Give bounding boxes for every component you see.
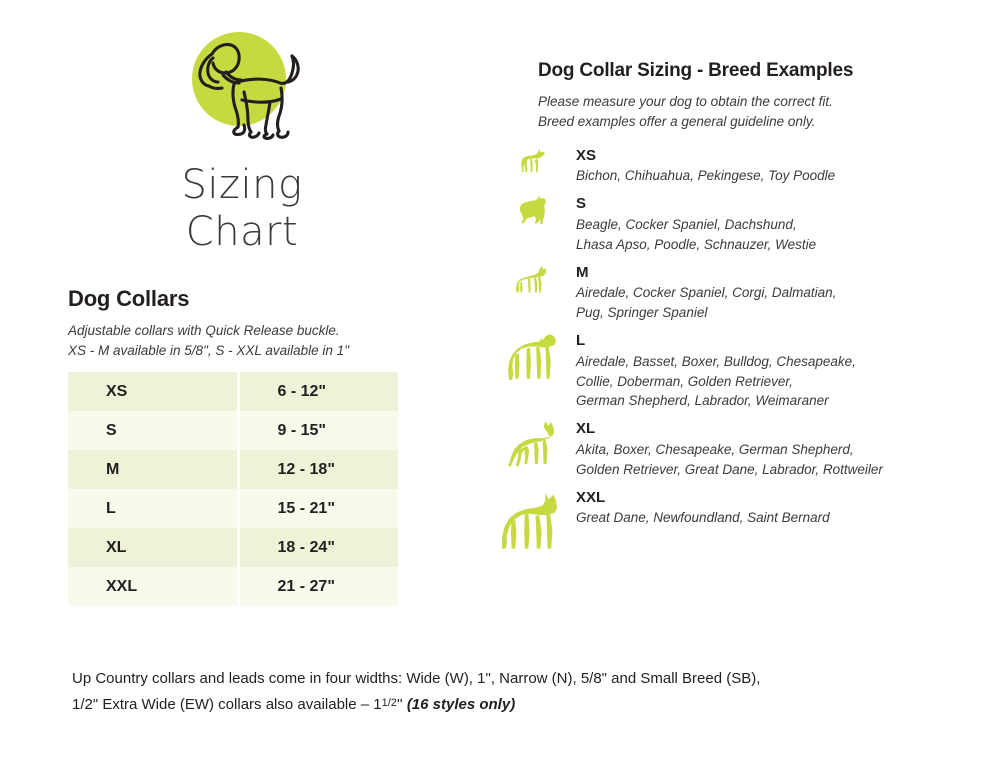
breed-names: Bichon, Chihuahua, Pekingese, Toy Poodle xyxy=(576,166,958,186)
page-title: Sizing Chart xyxy=(152,162,332,256)
breed-size-label: L xyxy=(576,332,958,351)
footer-fraction: 1/2 xyxy=(382,697,397,709)
breed-list-item: SBeagle, Cocker Spaniel, Dachshund, Lhas… xyxy=(538,195,958,254)
range-cell: 18 - 24" xyxy=(238,528,398,567)
range-cell: 12 - 18" xyxy=(238,450,398,489)
breed-text: MAiredale, Cocker Spaniel, Corgi, Dalmat… xyxy=(538,264,958,323)
breed-icon-wrap xyxy=(490,264,574,298)
footer-styles-note: (16 styles only) xyxy=(407,696,515,713)
corgi-silhouette-icon xyxy=(508,264,556,298)
table-row: L15 - 21" xyxy=(68,489,398,528)
size-cell: XS xyxy=(68,372,238,411)
logo-mark xyxy=(162,28,322,148)
size-cell: M xyxy=(68,450,238,489)
breed-icon-wrap xyxy=(490,147,574,177)
right-column: Dog Collar Sizing - Breed Examples Pleas… xyxy=(538,60,958,537)
breed-size-label: XS xyxy=(576,147,958,166)
table-row: M12 - 18" xyxy=(68,450,398,489)
footer-inch-mark: '' xyxy=(397,696,403,713)
table-row: XS6 - 12" xyxy=(68,372,398,411)
size-cell: XXL xyxy=(68,567,238,606)
breed-examples-note: Please measure your dog to obtain the co… xyxy=(538,92,958,133)
size-cell: S xyxy=(68,411,238,450)
breed-text: XSBichon, Chihuahua, Pekingese, Toy Pood… xyxy=(538,147,958,187)
breed-size-label: XL xyxy=(576,420,958,439)
dog-collars-subtext-line-1: Adjustable collars with Quick Release bu… xyxy=(68,321,408,341)
table-row: XL18 - 24" xyxy=(68,528,398,567)
breed-icon-wrap xyxy=(490,420,574,468)
breed-note-line-2: Breed examples offer a general guideline… xyxy=(538,112,958,132)
size-cell: XL xyxy=(68,528,238,567)
dog-collars-heading: Dog Collars xyxy=(68,286,408,312)
breed-list-item: XXLGreat Dane, Newfoundland, Saint Berna… xyxy=(538,489,958,529)
terrier-silhouette-icon xyxy=(512,195,552,229)
footer-note: Up Country collars and leads come in fou… xyxy=(72,666,952,719)
breed-examples-heading: Dog Collar Sizing - Breed Examples xyxy=(538,60,958,82)
breed-size-label: M xyxy=(576,264,958,283)
range-cell: 15 - 21" xyxy=(238,489,398,528)
footer-line-2: 1/2" Extra Wide (EW) collars also availa… xyxy=(72,692,952,718)
table-row: S9 - 15" xyxy=(68,411,398,450)
dog-collars-section: Dog Collars Adjustable collars with Quic… xyxy=(68,286,408,361)
dog-line-art-logo-icon xyxy=(182,28,312,140)
german-shepherd-silhouette-icon xyxy=(497,420,567,468)
breed-text: XLAkita, Boxer, Chesapeake, German Sheph… xyxy=(538,420,958,479)
breed-text: XXLGreat Dane, Newfoundland, Saint Berna… xyxy=(538,489,958,529)
retriever-silhouette-icon xyxy=(499,332,565,384)
breed-text: SBeagle, Cocker Spaniel, Dachshund, Lhas… xyxy=(538,195,958,254)
breed-names: Airedale, Basset, Boxer, Bulldog, Chesap… xyxy=(576,352,958,412)
breed-text: LAiredale, Basset, Boxer, Bulldog, Chesa… xyxy=(538,332,958,411)
breed-list-item: LAiredale, Basset, Boxer, Bulldog, Chesa… xyxy=(538,332,958,411)
breed-note-line-1: Please measure your dog to obtain the co… xyxy=(538,92,958,112)
brand-title-line-1: Sizing xyxy=(152,162,332,209)
chihuahua-silhouette-icon xyxy=(515,147,549,177)
table-row: XXL21 - 27" xyxy=(68,567,398,606)
breed-list-item: XLAkita, Boxer, Chesapeake, German Sheph… xyxy=(538,420,958,479)
breed-names: Great Dane, Newfoundland, Saint Bernard xyxy=(576,508,958,528)
size-cell: L xyxy=(68,489,238,528)
breed-names: Akita, Boxer, Chesapeake, German Shepher… xyxy=(576,440,958,480)
breed-list: XSBichon, Chihuahua, Pekingese, Toy Pood… xyxy=(538,147,958,529)
size-table-body: XS6 - 12"S9 - 15"M12 - 18"L15 - 21"XL18 … xyxy=(68,372,398,606)
range-cell: 9 - 15" xyxy=(238,411,398,450)
brand-logo-block: Sizing Chart xyxy=(152,28,332,268)
footer-line-2-text: 1/2" Extra Wide (EW) collars also availa… xyxy=(72,696,382,713)
footer-line-1: Up Country collars and leads come in fou… xyxy=(72,666,952,692)
sizing-chart-page: Sizing Chart Dog Collars Adjustable coll… xyxy=(0,0,1000,782)
breed-size-label: S xyxy=(576,195,958,214)
breed-icon-wrap xyxy=(490,195,574,229)
breed-size-label: XXL xyxy=(576,489,958,508)
dog-collars-subtext-line-2: XS - M available in 5/8", S - XXL availa… xyxy=(68,341,408,361)
range-cell: 6 - 12" xyxy=(238,372,398,411)
great-dane-silhouette-icon xyxy=(502,489,562,551)
breed-list-item: MAiredale, Cocker Spaniel, Corgi, Dalmat… xyxy=(538,264,958,323)
dog-collars-subtext: Adjustable collars with Quick Release bu… xyxy=(68,321,408,361)
breed-names: Airedale, Cocker Spaniel, Corgi, Dalmati… xyxy=(576,283,958,323)
breed-list-item: XSBichon, Chihuahua, Pekingese, Toy Pood… xyxy=(538,147,958,187)
breed-icon-wrap xyxy=(490,489,574,551)
brand-title-line-2: Chart xyxy=(152,209,332,256)
range-cell: 21 - 27" xyxy=(238,567,398,606)
size-table: XS6 - 12"S9 - 15"M12 - 18"L15 - 21"XL18 … xyxy=(68,372,398,606)
breed-icon-wrap xyxy=(490,332,574,384)
breed-names: Beagle, Cocker Spaniel, Dachshund, Lhasa… xyxy=(576,215,958,255)
